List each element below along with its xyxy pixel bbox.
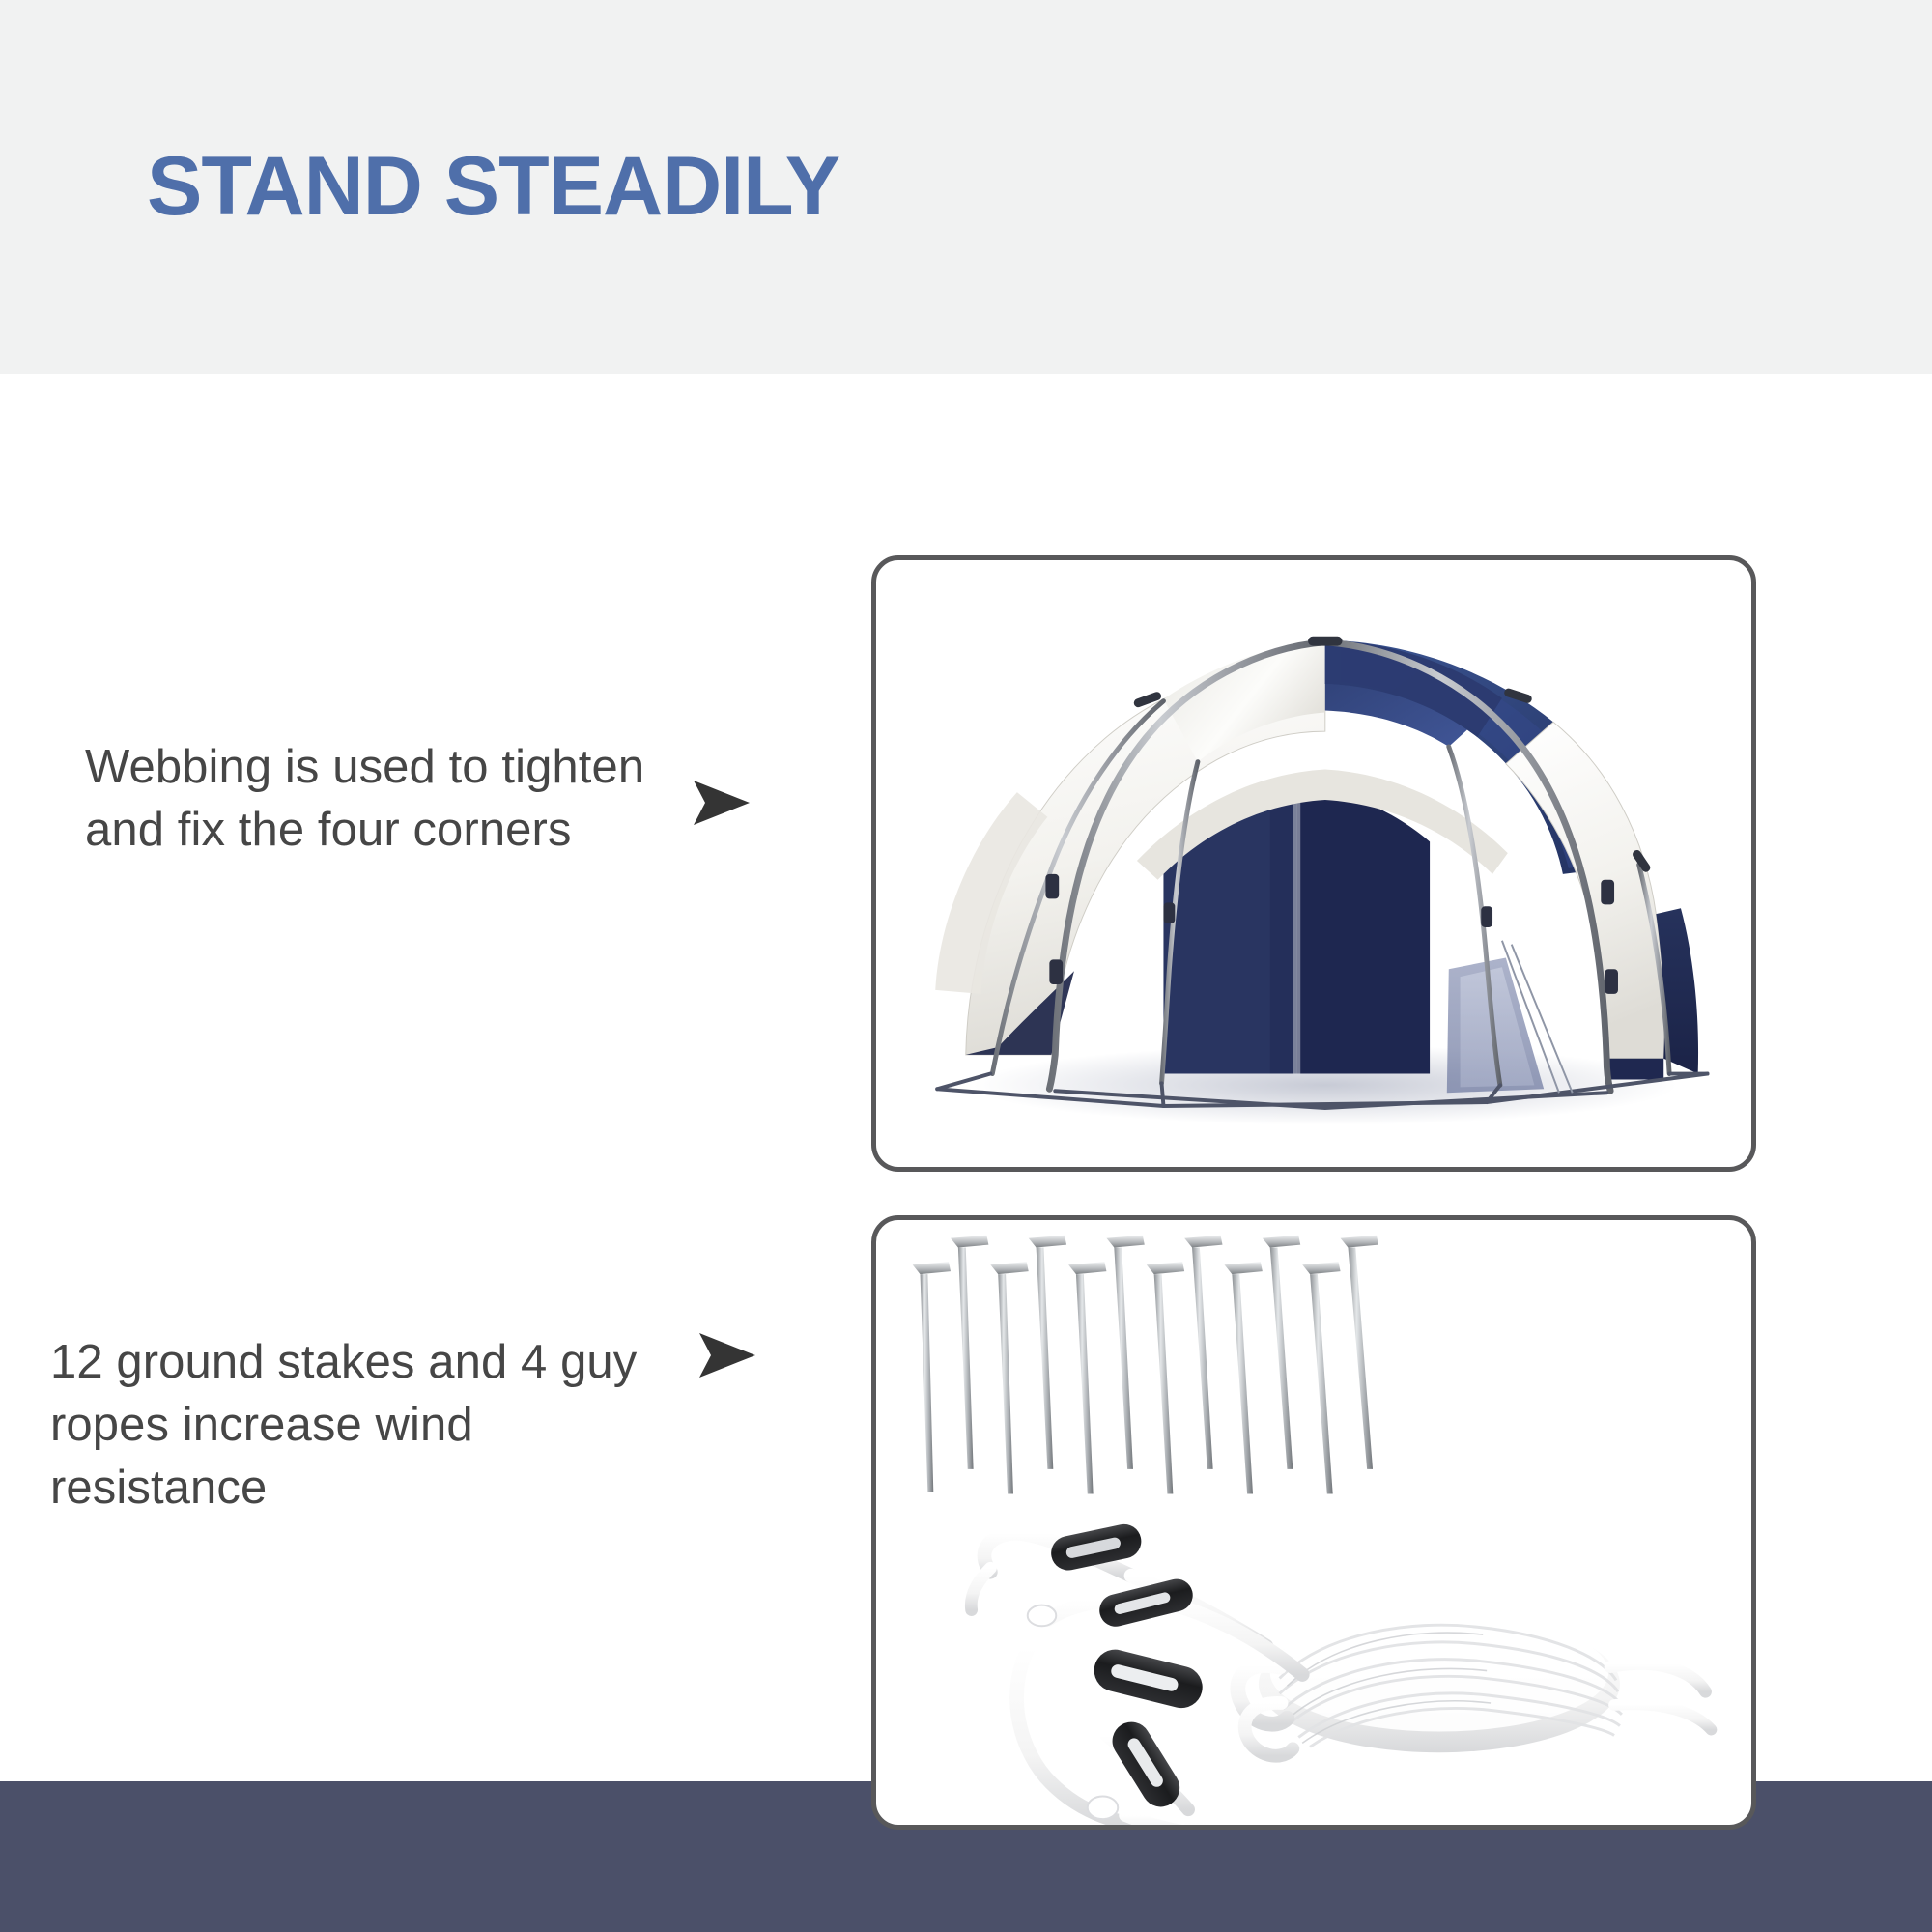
page-title: STAND STEADILY bbox=[147, 145, 839, 228]
feature-caption-stakes: 12 ground stakes and 4 guy ropes increas… bbox=[50, 1331, 688, 1520]
arrow-right-solid-icon bbox=[692, 779, 752, 827]
product-image-card-tent bbox=[871, 555, 1756, 1172]
stakes-and-ropes-illustration bbox=[876, 1220, 1751, 1825]
infographic-page: STAND STEADILY Webbing is used to tighte… bbox=[0, 0, 1932, 1932]
product-image-card-accessories bbox=[871, 1215, 1756, 1830]
tent-illustration bbox=[876, 560, 1751, 1167]
feature-caption-webbing: Webbing is used to tighten and fix the f… bbox=[85, 736, 684, 862]
header-band: STAND STEADILY bbox=[0, 0, 1932, 374]
arrow-right-solid-icon bbox=[697, 1331, 757, 1379]
